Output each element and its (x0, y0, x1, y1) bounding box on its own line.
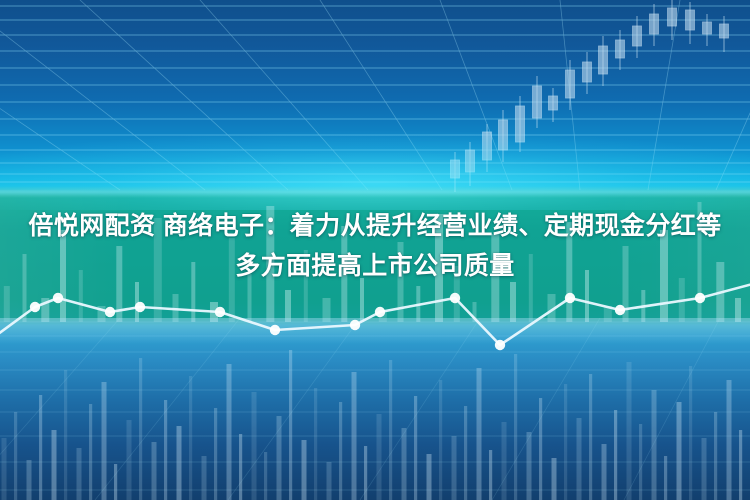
banner-root: 倍悦网配资 商络电子：着力从提升经营业绩、定期现金分红等 多方面提高上市公司质量 (0, 0, 750, 500)
headline-line-2: 多方面提高上市公司质量 (0, 246, 750, 286)
headline-line-1: 倍悦网配资 商络电子：着力从提升经营业绩、定期现金分红等 (0, 206, 750, 246)
page-title: 倍悦网配资 商络电子：着力从提升经营业绩、定期现金分红等 多方面提高上市公司质量 (0, 206, 750, 286)
